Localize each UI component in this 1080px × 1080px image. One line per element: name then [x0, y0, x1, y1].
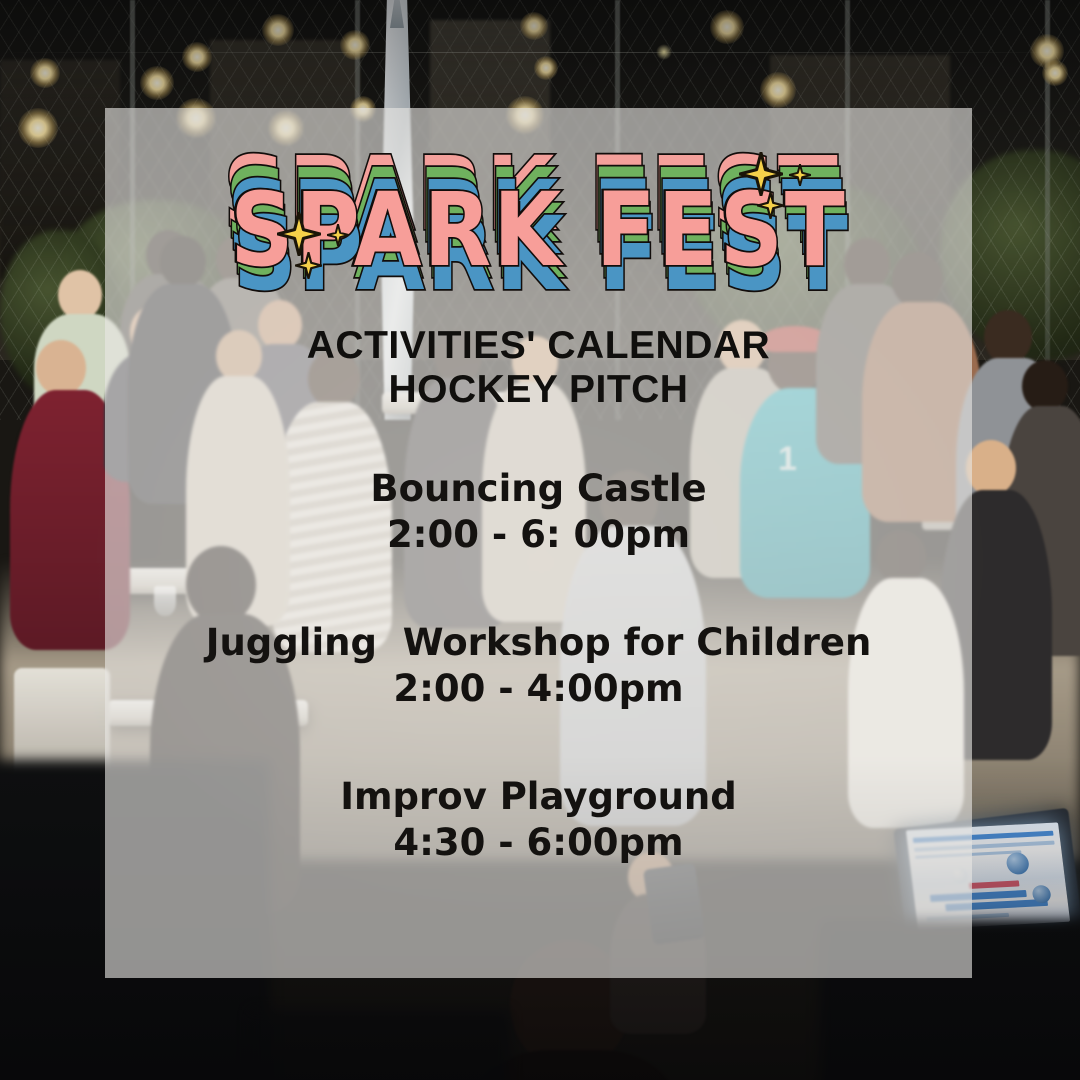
activity-item: Bouncing Castle 2:00 - 6: 00pm — [370, 467, 706, 559]
activity-name: Juggling Workshop for Children — [206, 621, 872, 665]
activity-item: Juggling Workshop for Children 2:00 - 4:… — [206, 621, 872, 713]
activity-name: Improv Playground — [340, 775, 737, 819]
logo-title: SPARK FEST — [96, 180, 980, 281]
subtitle-line-2: HOCKEY PITCH — [307, 368, 770, 412]
logo-block: SPARK FEST SPARK FEST SPARK FEST SPARK F… — [105, 130, 972, 320]
activities-list: Bouncing Castle 2:00 - 6: 00pm Juggling … — [105, 467, 972, 866]
activity-time: 4:30 - 6:00pm — [340, 819, 737, 867]
activity-time: 2:00 - 4:00pm — [206, 665, 872, 713]
subtitle-block: ACTIVITIES' CALENDAR HOCKEY PITCH — [307, 324, 770, 411]
activity-time: 2:00 - 6: 00pm — [370, 511, 706, 559]
poster: 1 — [0, 0, 1080, 1080]
poster-content: SPARK FEST SPARK FEST SPARK FEST SPARK F… — [105, 108, 972, 978]
subtitle-line-1: ACTIVITIES' CALENDAR — [307, 324, 770, 368]
activity-item: Improv Playground 4:30 - 6:00pm — [340, 775, 737, 867]
activity-name: Bouncing Castle — [370, 467, 706, 511]
